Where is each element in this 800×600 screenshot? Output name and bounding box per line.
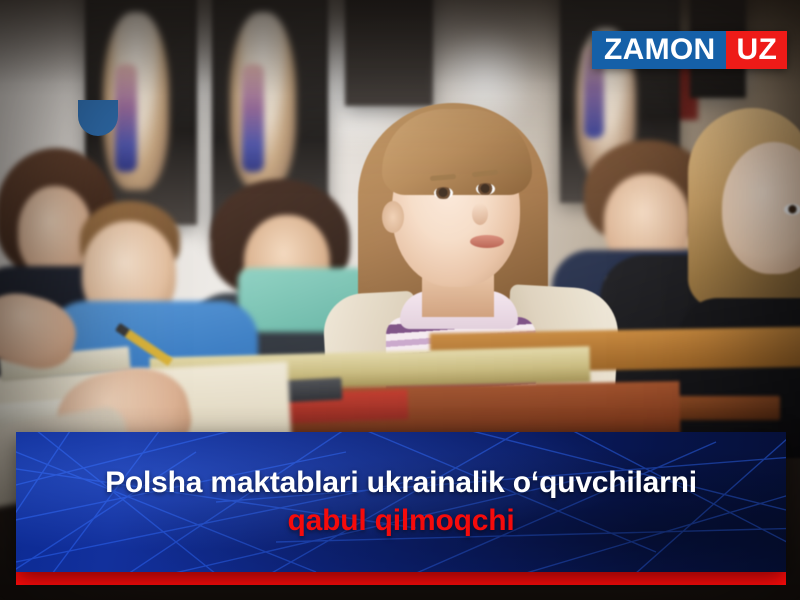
caption-sheen	[16, 432, 786, 572]
news-card: ★ ★ ★	[0, 0, 800, 600]
nose	[472, 203, 488, 225]
eye	[434, 187, 453, 199]
caption-block: Polsha maktablari ukrainalik o‘quvchilar…	[16, 432, 786, 585]
headline-line-1: Polsha maktablari ukrainalik o‘quvchilar…	[105, 466, 697, 500]
logo-zamon-text: ZAMON	[592, 31, 726, 69]
accent-red-bar	[16, 572, 786, 585]
person-blonde-girl-right	[688, 108, 800, 438]
mouth	[470, 235, 504, 248]
eye	[476, 183, 495, 195]
logo-uz-text: UZ	[726, 31, 787, 69]
wall-art-figure-body	[242, 64, 264, 172]
eye	[784, 204, 800, 215]
headline-line-2: qabul qilmoqchi	[288, 504, 515, 538]
ear	[382, 201, 404, 233]
caption-bar: Polsha maktablari ukrainalik o‘quvchilar…	[16, 432, 786, 572]
caption-line-pattern	[16, 432, 786, 572]
wall-art-panel	[345, 0, 433, 106]
zamon-uz-logo[interactable]: ZAMON UZ	[592, 31, 787, 69]
